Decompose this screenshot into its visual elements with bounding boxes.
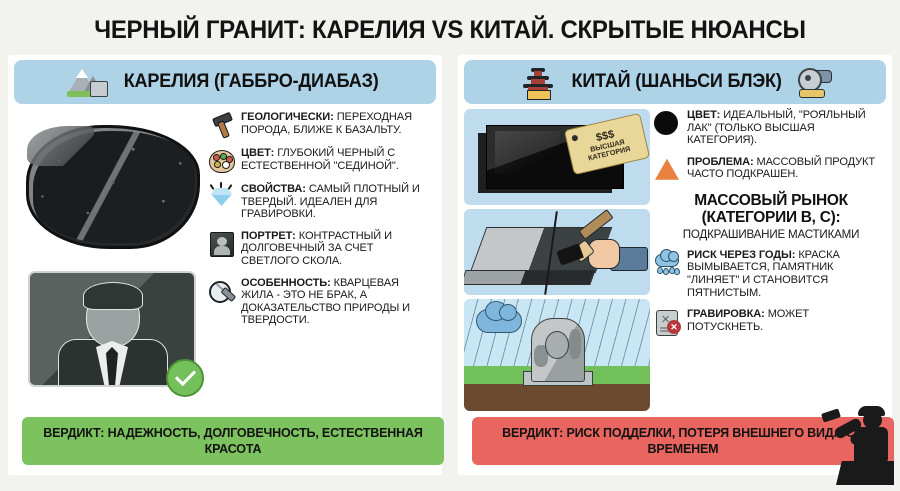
pagoda-icon — [518, 64, 558, 100]
palette-icon — [208, 148, 234, 174]
fact-text: ЦВЕТ: ИДЕАЛЬНЫЙ, "РОЯЛЬНЫЙ ЛАК" (ТОЛЬКО … — [687, 109, 882, 147]
karelia-verdict: ВЕРДИКТ: НАДЕЖНОСТЬ, ДОЛГОВЕЧНОСТЬ, ЕСТЕ… — [22, 417, 444, 465]
mass-market-heading-line2: (КАТЕГОРИИ B, C): — [654, 209, 888, 226]
china-media: $$$ ВЫСШАЯ КАТЕГОРИЯ — [464, 109, 650, 415]
black-circle-icon — [654, 110, 680, 136]
diamond-icon — [208, 184, 234, 210]
karelia-rock-photo — [14, 111, 210, 259]
china-fact-list: ЦВЕТ: ИДЕАЛЬНЫЙ, "РОЯЛЬНЫЙ ЛАК" (ТОЛЬКО … — [654, 109, 888, 344]
fact-item: ЦВЕТ: ГЛУБОКИЙ ЧЕРНЫЙ С ЕСТЕСТВЕННОЙ "СЕ… — [208, 147, 438, 174]
mountain-icon — [65, 66, 109, 98]
mass-market-sub: ПОДКРАШИВАНИЕ МАСТИКАМИ — [654, 228, 888, 241]
karelia-media — [14, 111, 210, 411]
mass-market-heading-line1: МАССОВЫЙ РЫНОК — [654, 192, 888, 209]
karelia-verdict-label: ВЕРДИКТ: НАДЕЖНОСТЬ, ДОЛГОВЕЧНОСТЬ, ЕСТЕ… — [33, 425, 434, 457]
black-granite-rock-image — [26, 125, 200, 249]
fact-text: ПОРТРЕТ: КОНТРАСТНЫЙ И ДОЛГОВЕЧНЫЙ ЗА СЧ… — [241, 230, 432, 268]
green-check-badge — [166, 359, 204, 397]
page-title: ЧЕРНЫЙ ГРАНИТ: КАРЕЛИЯ VS КИТАЙ. СКРЫТЫЕ… — [18, 16, 882, 45]
karelia-header-label: КАРЕЛИЯ (ГАББРО-ДИАБАЗ) — [124, 71, 379, 93]
fact-text: РИСК ЧЕРЕЗ ГОДЫ: КРАСКА ВЫМЫВАЕТСЯ, ПАМЯ… — [687, 249, 882, 299]
fact-item: ЦВЕТ: ИДЕАЛЬНЫЙ, "РОЯЛЬНЫЙ ЛАК" (ТОЛЬКО … — [654, 109, 888, 147]
hand-with-brush-image — [572, 221, 644, 277]
fact-item: ОСОБЕННОСТЬ: КВАРЦЕВАЯ ЖИЛА - ЭТО НЕ БРА… — [208, 277, 438, 327]
engraving-blocked-icon: ✕ ✕ — [654, 309, 680, 335]
angle-grinder-icon — [796, 66, 832, 98]
fact-item: ПРОБЛЕМА: МАССОВЫЙ ПРОДУКТ ЧАСТО ПОДКРАШ… — [654, 156, 888, 183]
karelia-header: КАРЕЛИЯ (ГАББРО-ДИАБАЗ) — [14, 60, 436, 104]
rain-cloud-icon — [654, 250, 680, 276]
karelia-body: ГЕОЛОГИЧЕСКИ: ПЕРЕХОДНАЯ ПОРОДА, БЛИЖЕ К… — [8, 107, 442, 419]
hammer-icon — [208, 112, 234, 138]
rain-grave-scene — [464, 299, 650, 411]
fact-text: ГРАВИРОВКА: МОЖЕТ ПОТУСКНЕТЬ. — [687, 308, 882, 333]
china-painting-photo — [464, 209, 650, 295]
price-tag: $$$ ВЫСШАЯ КАТЕГОРИЯ — [564, 113, 650, 175]
magnifier-icon — [208, 278, 234, 304]
fact-text: ОСОБЕННОСТЬ: КВАРЦЕВАЯ ЖИЛА - ЭТО НЕ БРА… — [241, 277, 432, 327]
karelia-fact-list: ГЕОЛОГИЧЕСКИ: ПЕРЕХОДНАЯ ПОРОДА, БЛИЖЕ К… — [208, 111, 438, 336]
fact-text: СВОЙСТВА: САМЫЙ ПЛОТНЫЙ И ТВЕРДЫЙ. ИДЕАЛ… — [241, 183, 432, 221]
china-header-label: КИТАЙ (ШАНЬСИ БЛЭК) — [572, 71, 782, 93]
stonemason-figure-icon — [820, 397, 898, 489]
infographic-page: ЧЕРНЫЙ ГРАНИТ: КАРЕЛИЯ VS КИТАЙ. СКРЫТЫЕ… — [0, 0, 900, 491]
china-slab-photo: $$$ ВЫСШАЯ КАТЕГОРИЯ — [464, 109, 650, 205]
karelia-portrait-photo — [14, 261, 210, 401]
fact-text: ЦВЕТ: ГЛУБОКИЙ ЧЕРНЫЙ С ЕСТЕСТВЕННОЙ "СЕ… — [241, 147, 432, 172]
china-grave-photo — [464, 299, 650, 411]
portrait-photo-icon — [208, 231, 234, 257]
fact-item: ПОРТРЕТ: КОНТРАСТНЫЙ И ДОЛГОВЕЧНЫЙ ЗА СЧ… — [208, 230, 438, 268]
china-header: КИТАЙ (ШАНЬСИ БЛЭК) — [464, 60, 886, 104]
china-body: $$$ ВЫСШАЯ КАТЕГОРИЯ — [458, 107, 892, 419]
fact-text: ПРОБЛЕМА: МАССОВЫЙ ПРОДУКТ ЧАСТО ПОДКРАШ… — [687, 156, 882, 181]
column-karelia: КАРЕЛИЯ (ГАББРО-ДИАБАЗ) — [8, 55, 442, 475]
fact-item: СВОЙСТВА: САМЫЙ ПЛОТНЫЙ И ТВЕРДЫЙ. ИДЕАЛ… — [208, 183, 438, 221]
fact-item: ✕ ✕ ГРАВИРОВКА: МОЖЕТ ПОТУСКНЕТЬ. — [654, 308, 888, 335]
fact-item: РИСК ЧЕРЕЗ ГОДЫ: КРАСКА ВЫМЫВАЕТСЯ, ПАМЯ… — [654, 249, 888, 299]
fact-item: ГЕОЛОГИЧЕСКИ: ПЕРЕХОДНАЯ ПОРОДА, БЛИЖЕ К… — [208, 111, 438, 138]
fact-text: ГЕОЛОГИЧЕСКИ: ПЕРЕХОДНАЯ ПОРОДА, БЛИЖЕ К… — [241, 111, 432, 136]
warning-triangle-icon — [654, 157, 680, 183]
